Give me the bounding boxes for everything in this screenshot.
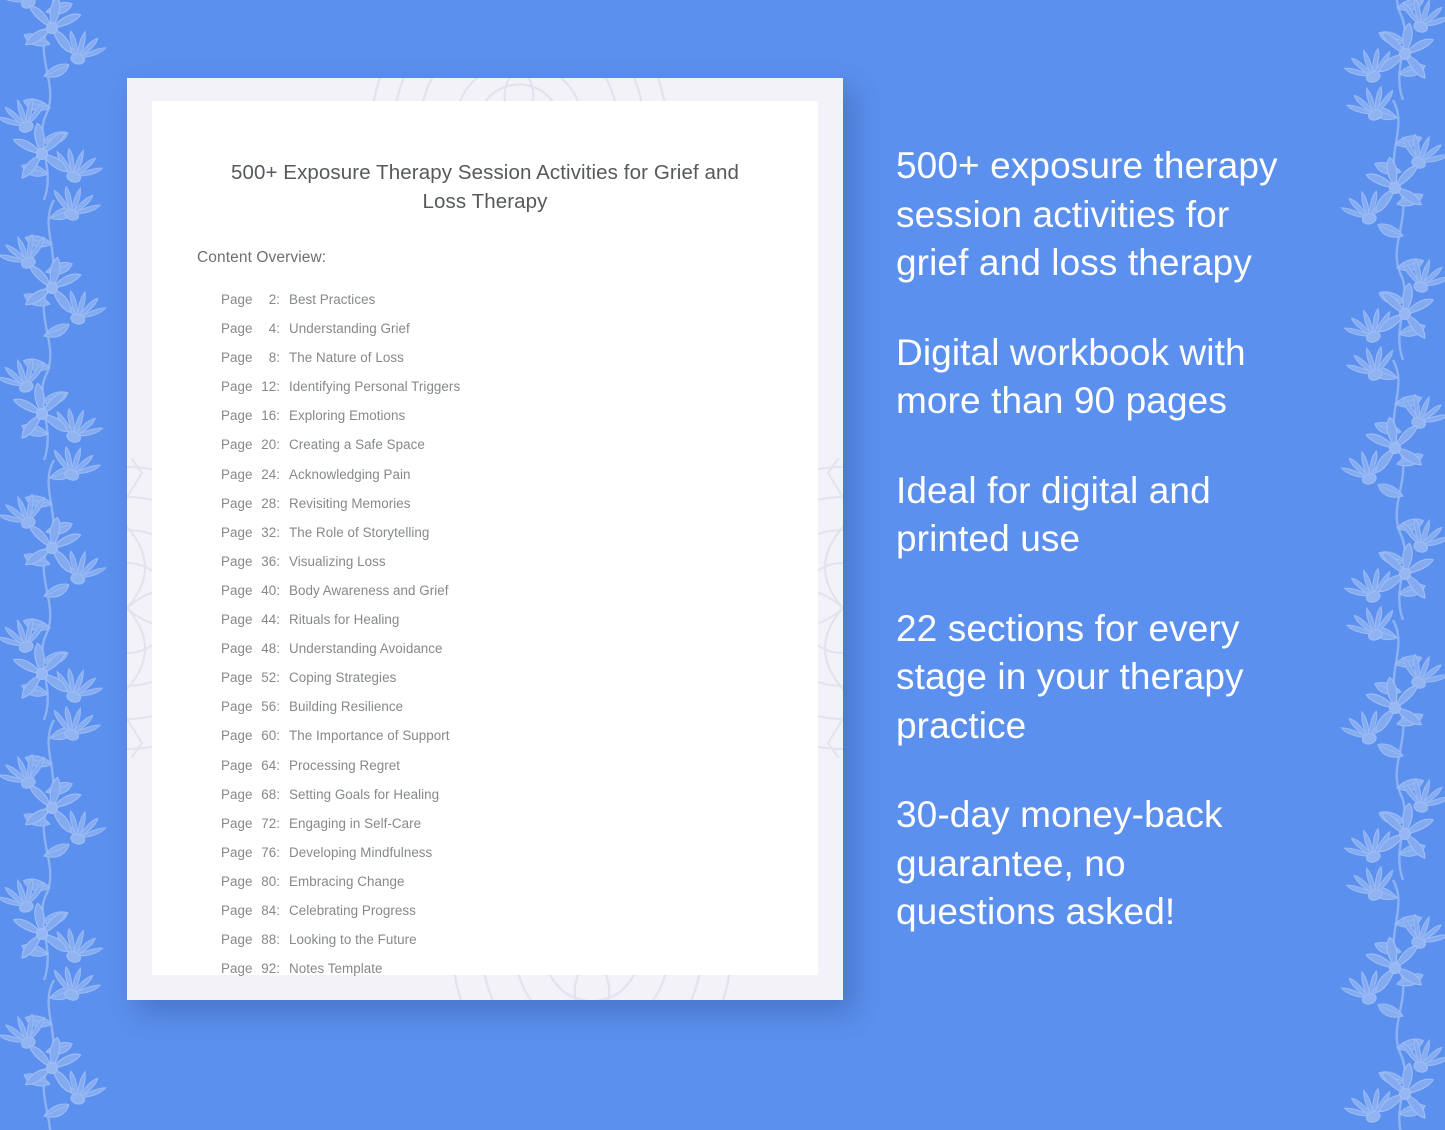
toc-page-word: Page — [221, 925, 256, 954]
toc-entry: Page 32:The Role of Storytelling — [221, 518, 818, 547]
toc-entry-title: Developing Mindfulness — [289, 838, 432, 867]
toc-separator: : — [276, 751, 289, 780]
toc-entry-title: Identifying Personal Triggers — [289, 372, 460, 401]
toc-page-word: Page — [221, 663, 256, 692]
toc-entry: Page 8:The Nature of Loss — [221, 343, 818, 372]
toc-entry-title: Processing Regret — [289, 751, 400, 780]
toc-page-word: Page — [221, 809, 256, 838]
toc-entry: Page 88:Looking to the Future — [221, 925, 818, 954]
toc-entry-title: Rituals for Healing — [289, 605, 399, 634]
toc-page-word: Page — [221, 692, 256, 721]
toc-page-word: Page — [221, 460, 256, 489]
toc-page-word: Page — [221, 285, 256, 314]
table-of-contents: Page 2:Best PracticesPage 4:Understandin… — [152, 267, 818, 983]
toc-page-word: Page — [221, 576, 256, 605]
toc-entry-title: Best Practices — [289, 285, 375, 314]
toc-page-number: 48 — [256, 634, 276, 663]
toc-page-number: 12 — [256, 372, 276, 401]
document-page: 500+ Exposure Therapy Session Activities… — [152, 101, 818, 975]
toc-page-number: 16 — [256, 401, 276, 430]
toc-entry-title: The Importance of Support — [289, 721, 450, 750]
toc-separator: : — [276, 605, 289, 634]
toc-page-number: 44 — [256, 605, 276, 634]
toc-page-word: Page — [221, 751, 256, 780]
toc-separator: : — [276, 489, 289, 518]
toc-entry: Page 16:Exploring Emotions — [221, 401, 818, 430]
toc-separator: : — [276, 518, 289, 547]
toc-entry: Page 60:The Importance of Support — [221, 721, 818, 750]
toc-entry: Page 40:Body Awareness and Grief — [221, 576, 818, 605]
toc-page-word: Page — [221, 547, 256, 576]
page-title: 500+ Exposure Therapy Session Activities… — [152, 101, 818, 216]
toc-separator: : — [276, 372, 289, 401]
toc-page-number: 68 — [256, 780, 276, 809]
toc-page-number: 60 — [256, 721, 276, 750]
toc-page-number: 88 — [256, 925, 276, 954]
toc-page-word: Page — [221, 489, 256, 518]
toc-entry: Page 80:Embracing Change — [221, 867, 818, 896]
toc-separator: : — [276, 954, 289, 983]
toc-entry: Page 56:Building Resilience — [221, 692, 818, 721]
toc-entry-title: Creating a Safe Space — [289, 430, 425, 459]
content-overview-label: Content Overview: — [152, 216, 818, 267]
toc-page-number: 8 — [256, 343, 276, 372]
toc-page-number: 84 — [256, 896, 276, 925]
toc-separator: : — [276, 576, 289, 605]
toc-page-word: Page — [221, 896, 256, 925]
toc-page-number: 80 — [256, 867, 276, 896]
marketing-paragraph: Ideal for digital and printed use — [896, 467, 1366, 564]
toc-entry: Page 4:Understanding Grief — [221, 314, 818, 343]
toc-separator: : — [276, 838, 289, 867]
floral-vine-border-left — [0, 0, 114, 1130]
toc-entry-title: Revisiting Memories — [289, 489, 411, 518]
toc-entry-title: Embracing Change — [289, 867, 404, 896]
toc-page-word: Page — [221, 343, 256, 372]
toc-separator: : — [276, 314, 289, 343]
toc-page-word: Page — [221, 838, 256, 867]
toc-page-word: Page — [221, 867, 256, 896]
marketing-paragraph: 22 sections for every stage in your ther… — [896, 605, 1366, 751]
toc-separator: : — [276, 285, 289, 314]
toc-entry-title: Coping Strategies — [289, 663, 396, 692]
toc-entry: Page 28:Revisiting Memories — [221, 489, 818, 518]
toc-separator: : — [276, 925, 289, 954]
toc-separator: : — [276, 430, 289, 459]
toc-entry-title: Understanding Grief — [289, 314, 410, 343]
toc-separator: : — [276, 460, 289, 489]
toc-entry: Page 12:Identifying Personal Triggers — [221, 372, 818, 401]
marketing-paragraph: 500+ exposure therapy session activities… — [896, 142, 1366, 288]
toc-page-word: Page — [221, 518, 256, 547]
toc-separator: : — [276, 343, 289, 372]
toc-entry: Page 76:Developing Mindfulness — [221, 838, 818, 867]
toc-page-number: 28 — [256, 489, 276, 518]
toc-entry: Page 64:Processing Regret — [221, 751, 818, 780]
document-preview-card: 500+ Exposure Therapy Session Activities… — [127, 78, 843, 1000]
toc-page-word: Page — [221, 721, 256, 750]
toc-page-word: Page — [221, 954, 256, 983]
toc-entry: Page 44:Rituals for Healing — [221, 605, 818, 634]
toc-page-number: 52 — [256, 663, 276, 692]
toc-entry-title: Engaging in Self-Care — [289, 809, 421, 838]
toc-entry-title: Acknowledging Pain — [289, 460, 411, 489]
toc-entry-title: Building Resilience — [289, 692, 403, 721]
toc-separator: : — [276, 547, 289, 576]
toc-page-word: Page — [221, 430, 256, 459]
toc-page-number: 2 — [256, 285, 276, 314]
toc-entry-title: Body Awareness and Grief — [289, 576, 449, 605]
marketing-paragraph: Digital workbook with more than 90 pages — [896, 329, 1366, 426]
toc-separator: : — [276, 896, 289, 925]
toc-page-word: Page — [221, 401, 256, 430]
toc-entry: Page 92:Notes Template — [221, 954, 818, 983]
toc-entry: Page 24:Acknowledging Pain — [221, 460, 818, 489]
toc-entry-title: The Nature of Loss — [289, 343, 404, 372]
toc-page-word: Page — [221, 314, 256, 343]
toc-page-number: 32 — [256, 518, 276, 547]
toc-separator: : — [276, 401, 289, 430]
marketing-copy: 500+ exposure therapy session activities… — [896, 142, 1366, 937]
toc-entry-title: Understanding Avoidance — [289, 634, 443, 663]
toc-page-number: 56 — [256, 692, 276, 721]
toc-page-number: 92 — [256, 954, 276, 983]
toc-entry-title: Looking to the Future — [289, 925, 417, 954]
toc-entry-title: Celebrating Progress — [289, 896, 416, 925]
toc-page-word: Page — [221, 372, 256, 401]
toc-entry: Page 2:Best Practices — [221, 285, 818, 314]
toc-separator: : — [276, 867, 289, 896]
toc-page-number: 76 — [256, 838, 276, 867]
toc-page-word: Page — [221, 605, 256, 634]
toc-page-number: 4 — [256, 314, 276, 343]
toc-entry-title: The Role of Storytelling — [289, 518, 429, 547]
toc-entry-title: Notes Template — [289, 954, 383, 983]
toc-page-number: 36 — [256, 547, 276, 576]
toc-separator: : — [276, 721, 289, 750]
toc-page-word: Page — [221, 634, 256, 663]
toc-page-number: 40 — [256, 576, 276, 605]
toc-entry: Page 52:Coping Strategies — [221, 663, 818, 692]
toc-separator: : — [276, 663, 289, 692]
toc-separator: : — [276, 809, 289, 838]
toc-page-number: 20 — [256, 430, 276, 459]
toc-separator: : — [276, 780, 289, 809]
toc-page-number: 64 — [256, 751, 276, 780]
toc-entry-title: Exploring Emotions — [289, 401, 405, 430]
toc-page-number: 72 — [256, 809, 276, 838]
toc-entry: Page 36:Visualizing Loss — [221, 547, 818, 576]
toc-entry: Page 68:Setting Goals for Healing — [221, 780, 818, 809]
toc-entry: Page 72:Engaging in Self-Care — [221, 809, 818, 838]
toc-entry: Page 20:Creating a Safe Space — [221, 430, 818, 459]
toc-separator: : — [276, 634, 289, 663]
toc-entry: Page 84:Celebrating Progress — [221, 896, 818, 925]
toc-entry-title: Visualizing Loss — [289, 547, 386, 576]
toc-entry: Page 48:Understanding Avoidance — [221, 634, 818, 663]
toc-separator: : — [276, 692, 289, 721]
toc-entry-title: Setting Goals for Healing — [289, 780, 439, 809]
marketing-paragraph: 30-day money-back guarantee, no question… — [896, 791, 1366, 937]
toc-page-number: 24 — [256, 460, 276, 489]
toc-page-word: Page — [221, 780, 256, 809]
